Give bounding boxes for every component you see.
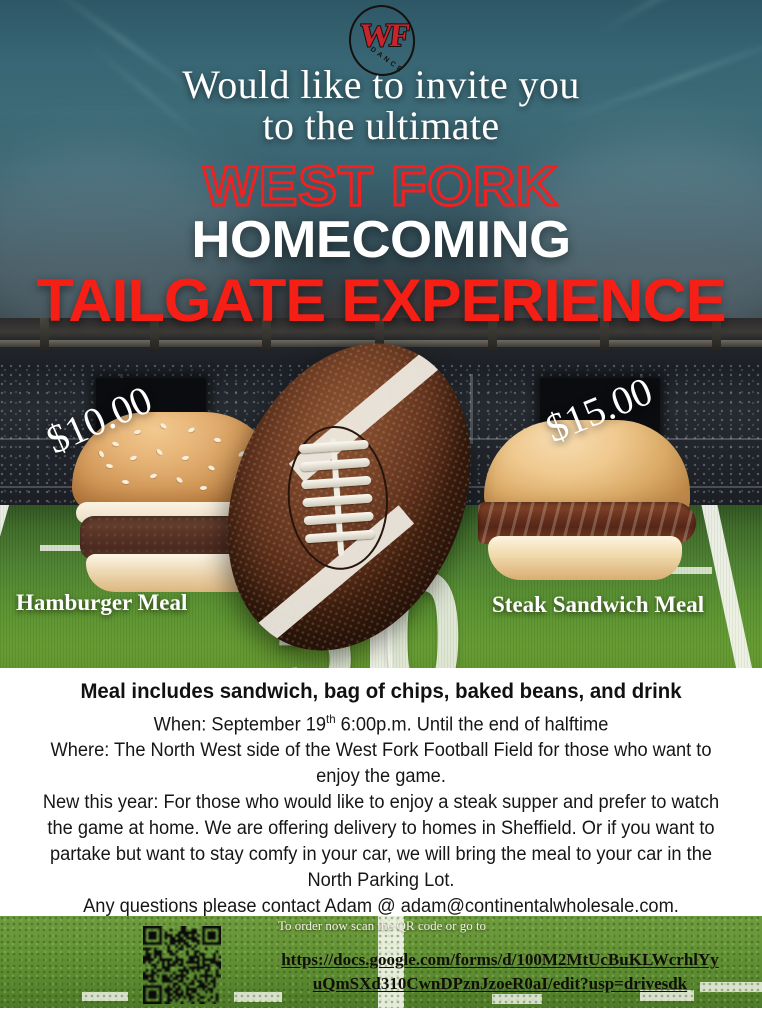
order-form-qr-code[interactable] [143, 926, 221, 1004]
when-ordinal-suffix: th [326, 712, 336, 726]
invite-line-2: to the ultimate [0, 109, 762, 142]
new-this-year-line: New this year: For those who would like … [31, 790, 732, 894]
when-line: When: September 19th 6:00p.m. Until the … [31, 706, 732, 738]
label-steak-sandwich-meal: Steak Sandwich Meal [492, 592, 704, 618]
tailgate-flyer: 50 WF DANCE Would like to invite you to … [0, 0, 762, 1024]
football-laces [294, 435, 382, 558]
steak-sandwich-image [484, 420, 696, 588]
where-line: Where: The North West side of the West F… [31, 738, 732, 790]
when-suffix: 6:00p.m. Until the end of halftime [336, 714, 609, 735]
label-hamburger-meal: Hamburger Meal [16, 590, 187, 616]
title-tailgate-experience: TAILGATE EXPERIENCE [0, 270, 762, 332]
title-homecoming: HOMECOMING [0, 213, 762, 267]
meal-includes-headline: Meal includes sandwich, bag of chips, ba… [27, 678, 735, 706]
light-streak [599, 0, 762, 34]
logo-monogram: WF [353, 17, 413, 57]
bottom-white-strip [0, 1008, 762, 1024]
scan-instruction-text: To order now scan the QR code or go to [232, 918, 532, 934]
details-panel: Meal includes sandwich, bag of chips, ba… [0, 668, 762, 916]
steak-bottom-bun [488, 536, 682, 580]
when-prefix: When: September 19 [154, 714, 326, 735]
url-line-2[interactable]: uQmSXd310CwnDPznJzoeR0aI/edit?usp=drives… [240, 972, 760, 996]
invitation-text: Would like to invite you to the ultimate [0, 68, 762, 142]
url-line-1[interactable]: https://docs.google.com/forms/d/100M2MtU… [240, 948, 760, 972]
invite-line-1: Would like to invite you [182, 62, 579, 107]
qr-code-canvas[interactable] [143, 926, 221, 1004]
title-west-fork: WEST FORK [0, 158, 762, 214]
order-form-url[interactable]: https://docs.google.com/forms/d/100M2MtU… [240, 948, 760, 996]
